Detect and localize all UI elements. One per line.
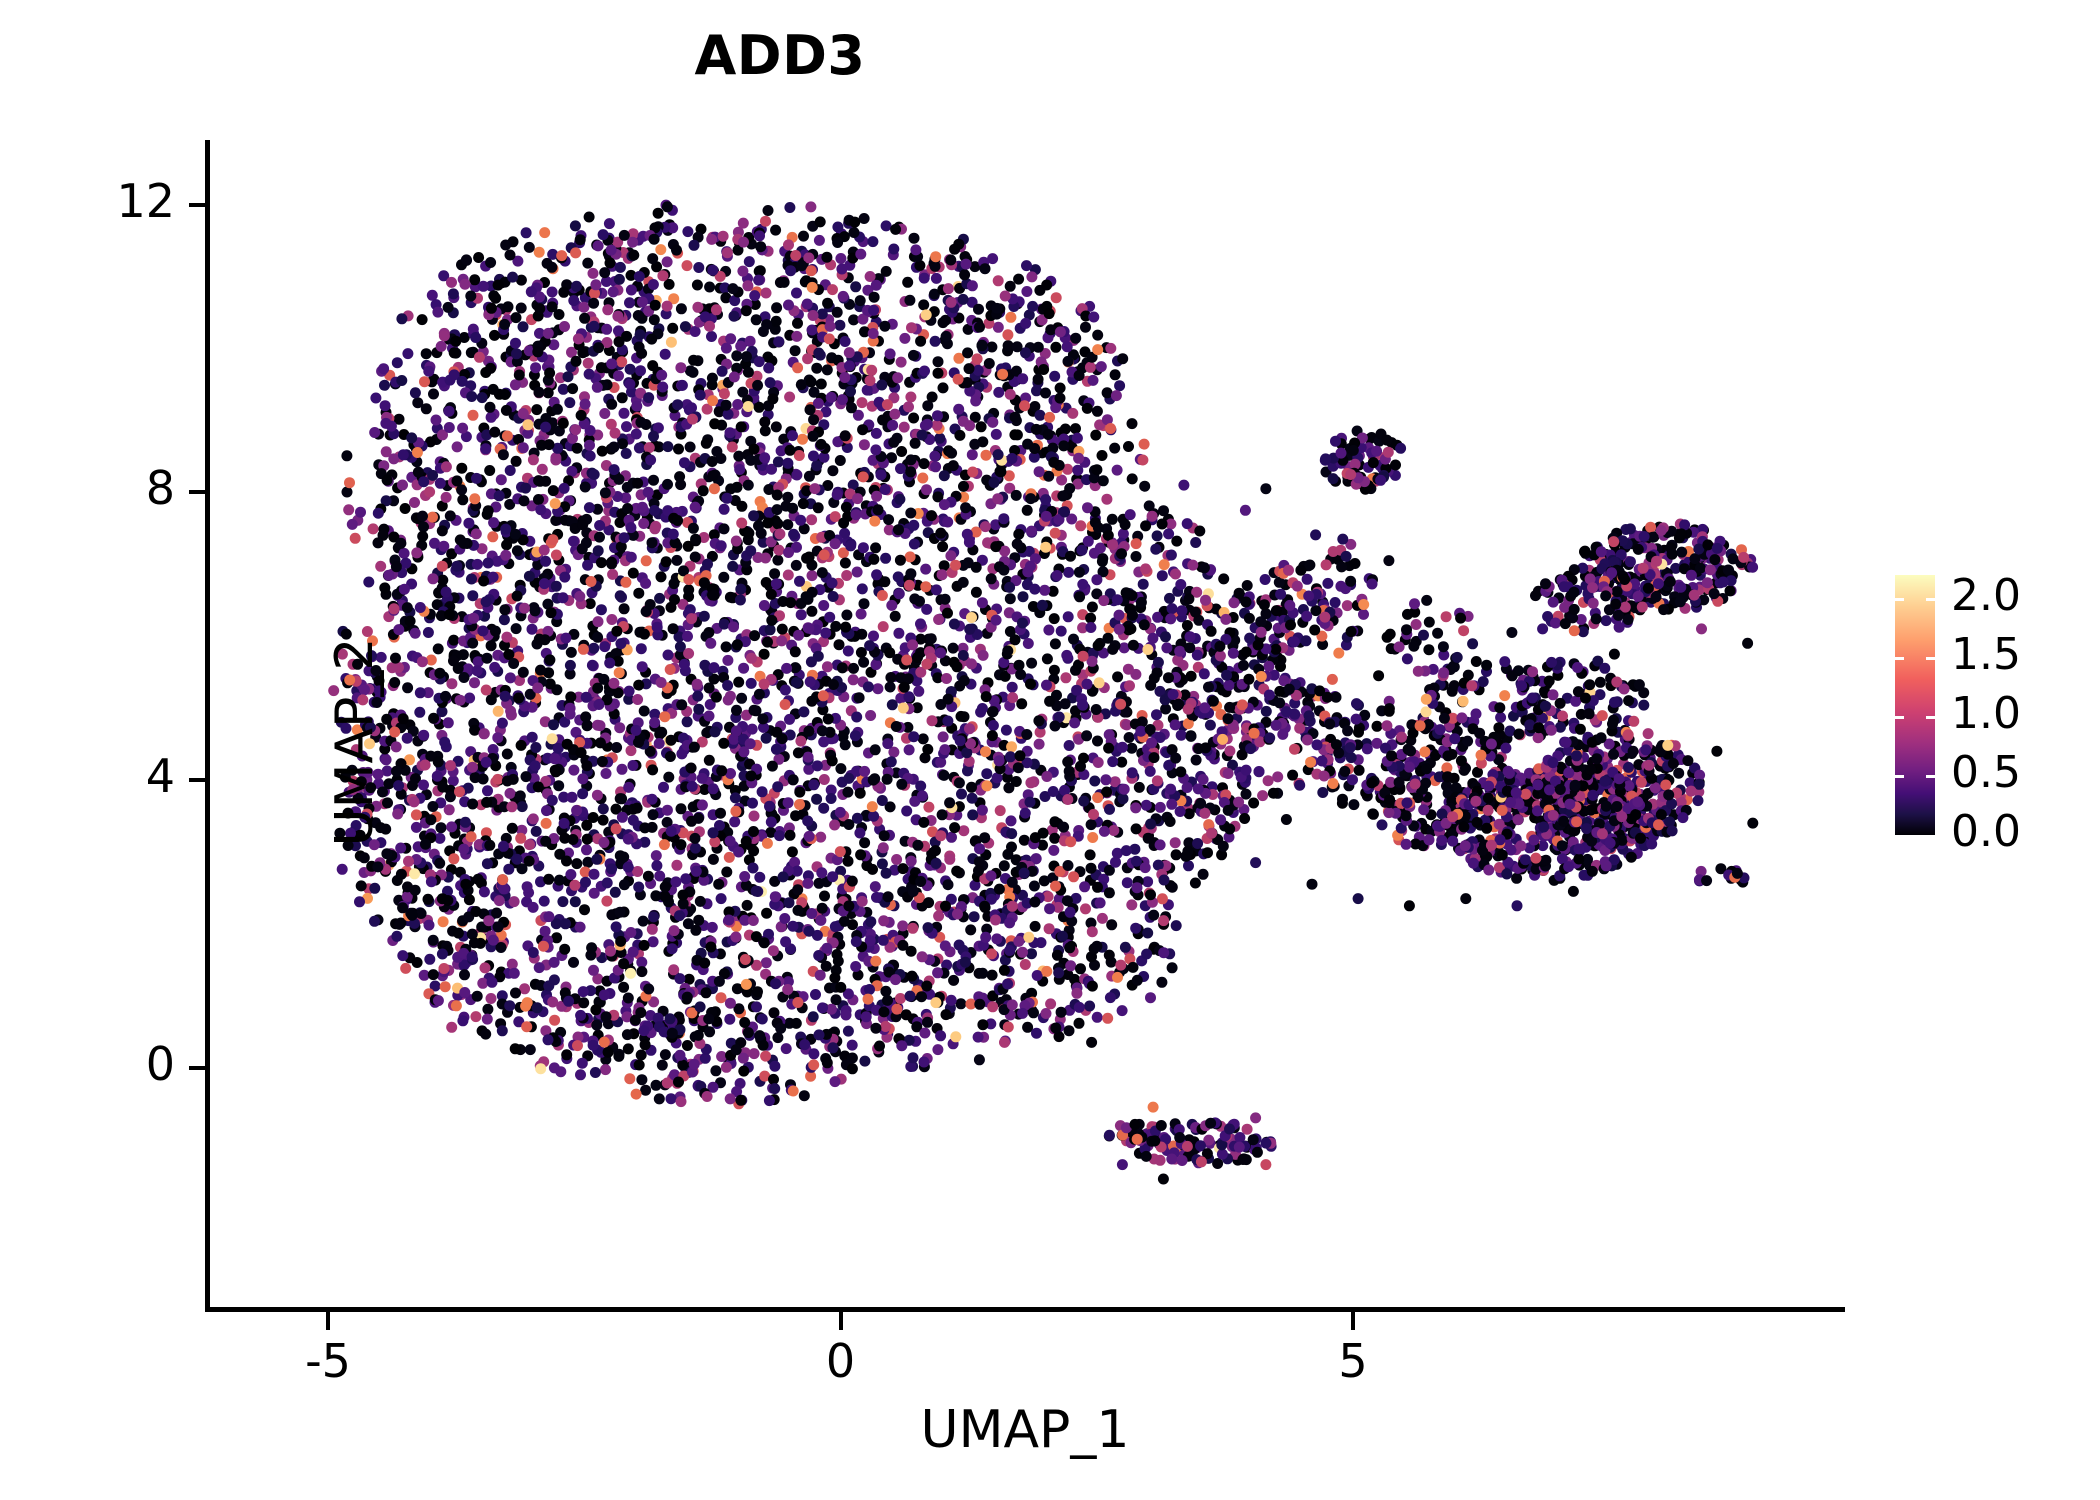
colorbar-tick-mark (1926, 657, 1935, 660)
colorbar-tick-label: 0.0 (1951, 806, 2021, 857)
colorbar-tick-mark (1926, 716, 1935, 719)
scatter-points-svg (205, 140, 1845, 1312)
x-tick-mark (839, 1312, 843, 1330)
colorbar-tick-label: 1.5 (1951, 629, 2021, 680)
scatter-plot-area (205, 140, 1845, 1312)
x-tick-mark (1351, 1312, 1355, 1330)
x-tick-label: 5 (1253, 1334, 1453, 1388)
page-title: ADD3 (0, 24, 1560, 87)
colorbar-tick-label: 0.5 (1951, 747, 2021, 798)
x-tick-label: -5 (228, 1334, 428, 1388)
x-axis-label: UMAP_1 (205, 1400, 1845, 1460)
colorbar-tick-mark (1895, 716, 1904, 719)
colorbar-legend[interactable]: 2.01.51.00.50.0 (1895, 575, 2085, 835)
colorbar-tick-label: 1.0 (1951, 688, 2021, 739)
y-tick-label: 12 (5, 174, 175, 228)
y-tick-mark (189, 778, 205, 782)
figure-canvas: ADD3 04812 -505 UMAP_1 UMAP_2 2.01.51.00… (0, 0, 2100, 1500)
colorbar-tick-mark (1926, 775, 1935, 778)
colorbar-tick-label: 2.0 (1951, 570, 2021, 621)
y-tick-label: 8 (5, 461, 175, 515)
colorbar-tick-mark (1895, 598, 1904, 601)
y-tick-mark (189, 203, 205, 207)
colorbar-tick-mark (1895, 657, 1904, 660)
y-tick-label: 4 (5, 749, 175, 803)
x-tick-label: 0 (741, 1334, 941, 1388)
colorbar-gradient-bar (1895, 575, 1935, 835)
colorbar-tick-mark (1926, 598, 1935, 601)
y-tick-mark (189, 1066, 205, 1070)
y-tick-label: 0 (5, 1037, 175, 1091)
colorbar-tick-mark (1895, 775, 1904, 778)
y-tick-mark (189, 490, 205, 494)
y-axis-label: UMAP_2 (325, 156, 385, 1328)
